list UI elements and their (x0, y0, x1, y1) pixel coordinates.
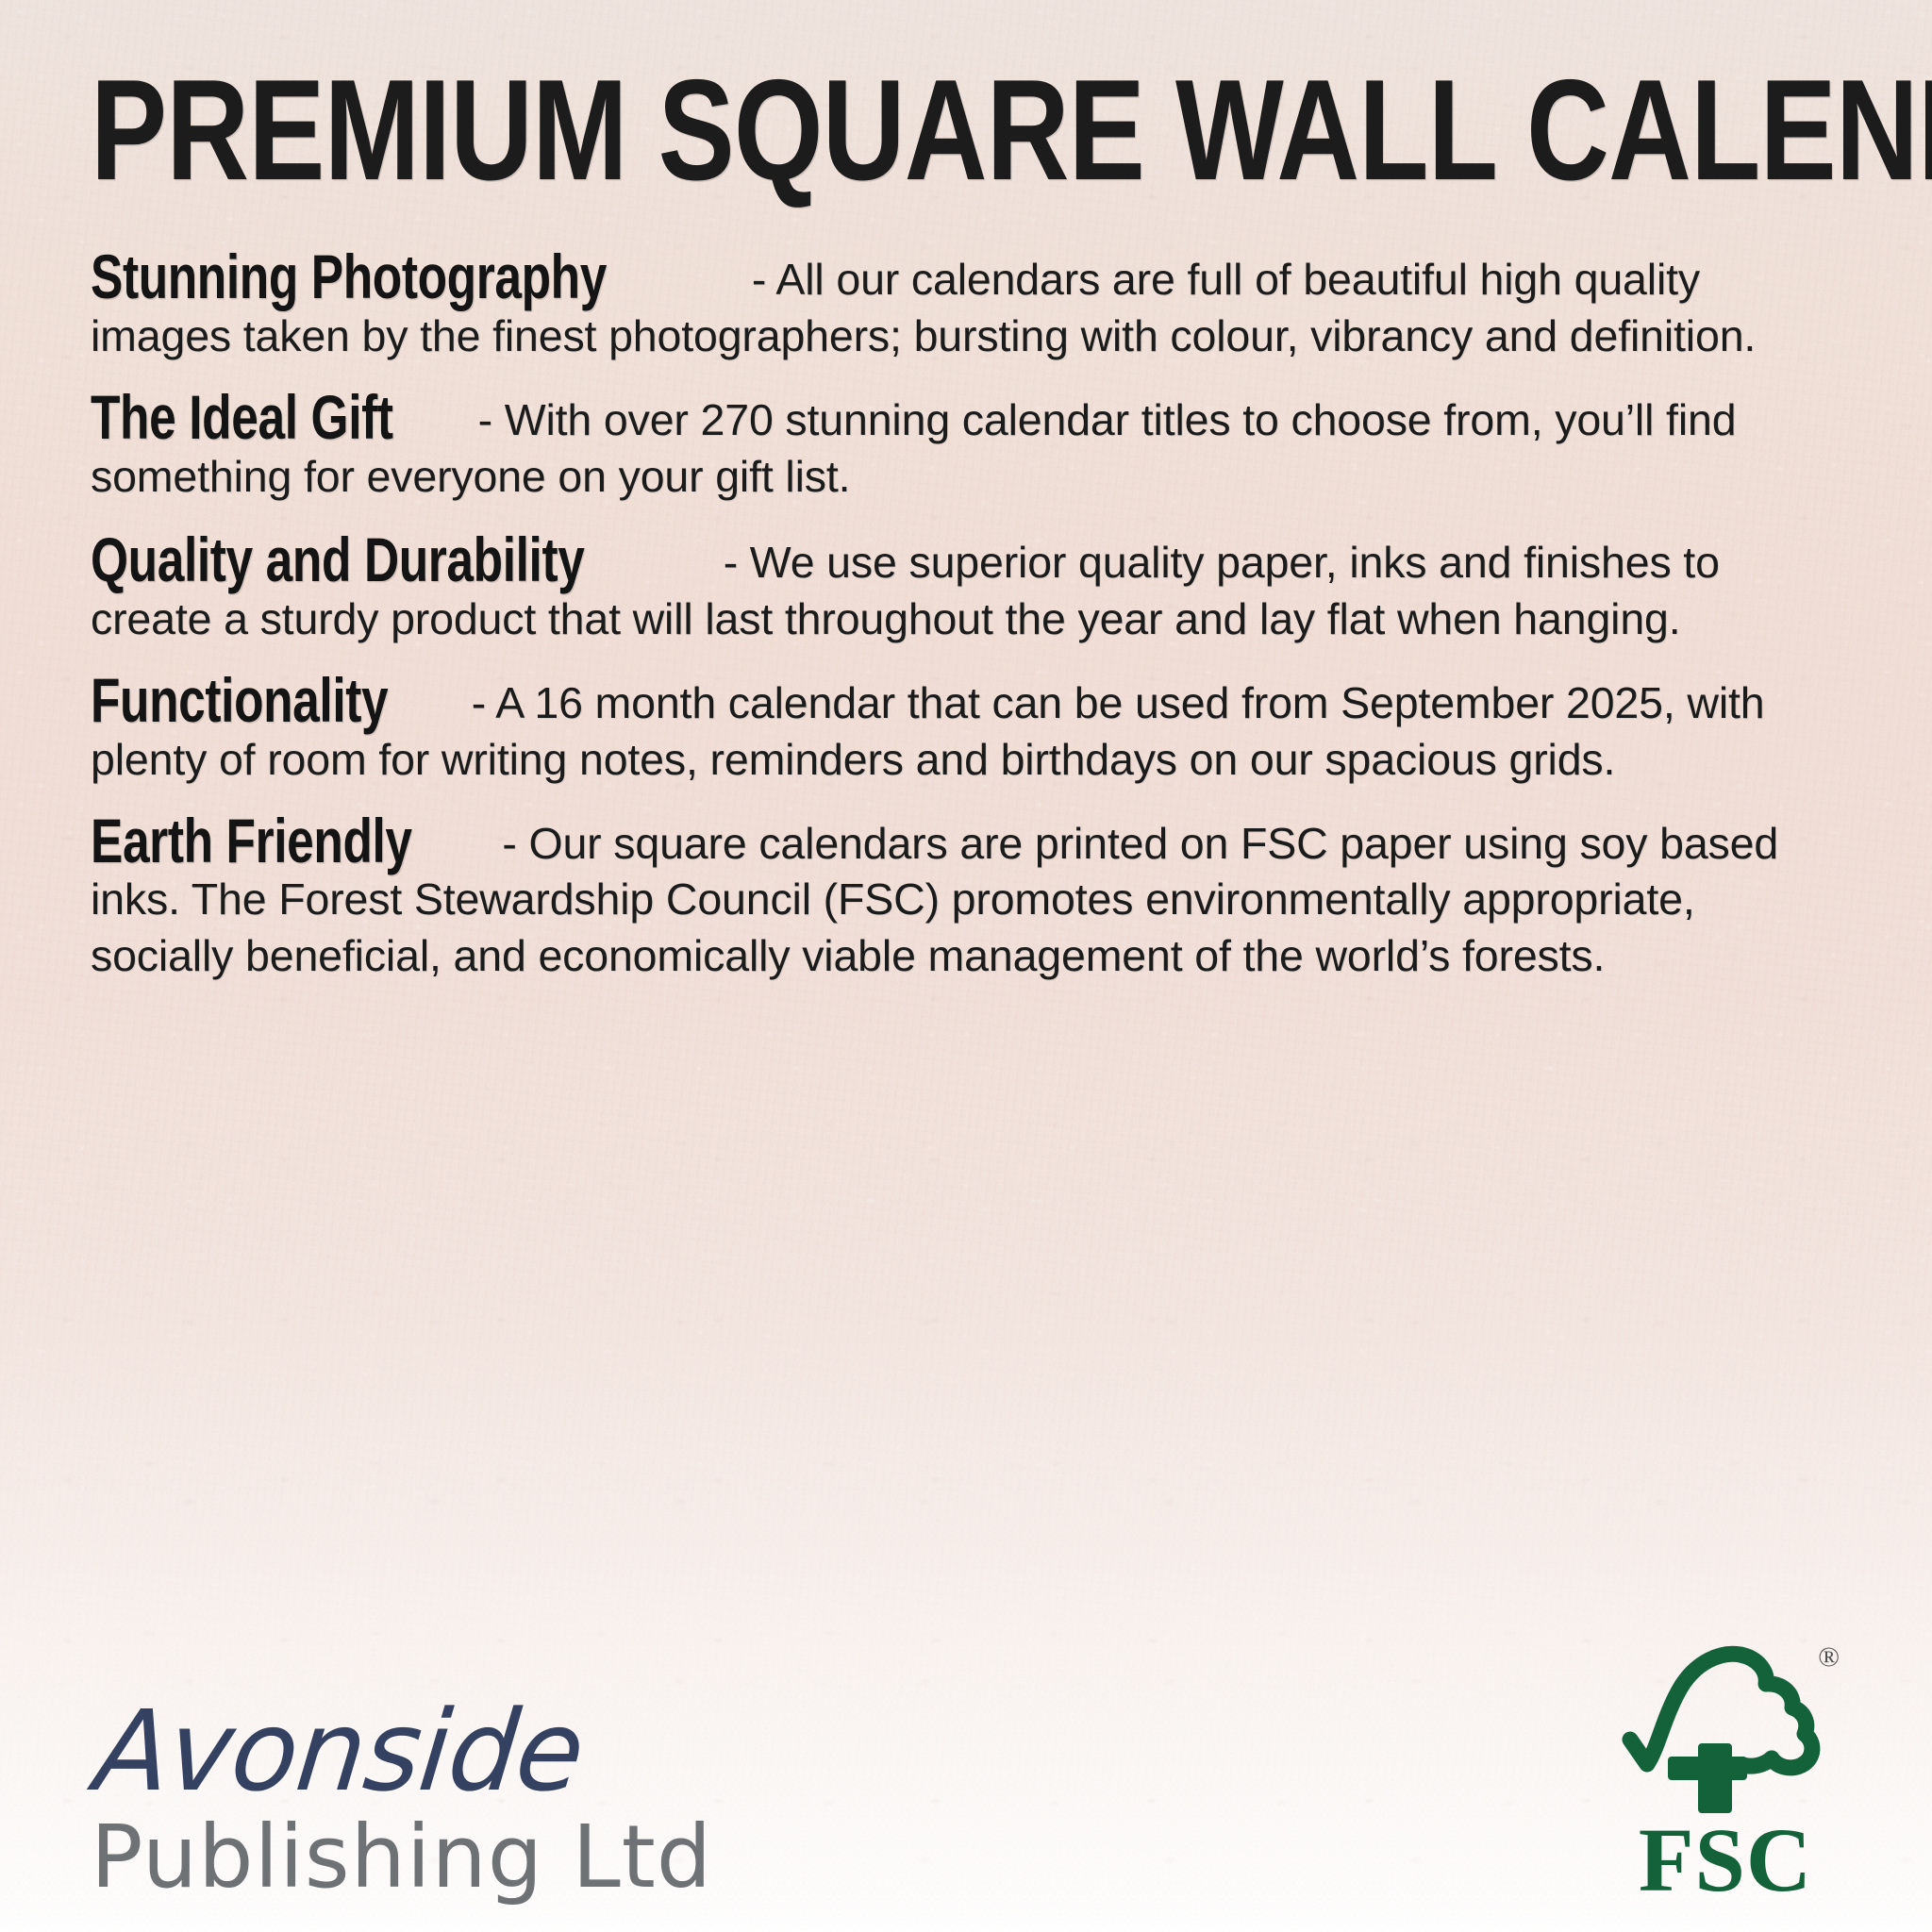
feature-heading-functionality: Functionality (91, 669, 388, 731)
feature-quality-and-durability: Quality and Durability - We use superior… (91, 528, 1841, 648)
page-title: PREMIUM SQUARE WALL CALENDARS (91, 0, 1491, 202)
feature-paragraph: The Ideal Gift - With over 270 stunning … (91, 386, 1841, 506)
feature-heading-earth-friendly: Earth Friendly (91, 809, 412, 872)
feature-paragraph: Stunning Photography - All our calendars… (91, 245, 1841, 365)
feature-list: Stunning Photography - All our calendars… (91, 245, 1841, 984)
feature-heading-the-ideal-gift: The Ideal Gift (91, 386, 393, 448)
feature-functionality: Functionality - A 16 month calendar that… (91, 669, 1841, 789)
feature-earth-friendly: Earth Friendly - Our square calendars ar… (91, 809, 1841, 985)
feature-paragraph: Earth Friendly - Our square calendars ar… (91, 809, 1841, 985)
feature-paragraph: Functionality - A 16 month calendar that… (91, 669, 1841, 789)
calendar-info-poster: PREMIUM SQUARE WALL CALENDARS Stunning P… (0, 0, 1932, 1932)
feature-paragraph: Quality and Durability - We use superior… (91, 528, 1841, 648)
feature-the-ideal-gift: The Ideal Gift - With over 270 stunning … (91, 386, 1841, 506)
poster-content: PREMIUM SQUARE WALL CALENDARS Stunning P… (0, 0, 1932, 1932)
feature-stunning-photography: Stunning Photography - All our calendars… (91, 245, 1841, 365)
feature-heading-quality-and-durability: Quality and Durability (91, 528, 584, 591)
feature-heading-stunning-photography: Stunning Photography (91, 245, 607, 308)
